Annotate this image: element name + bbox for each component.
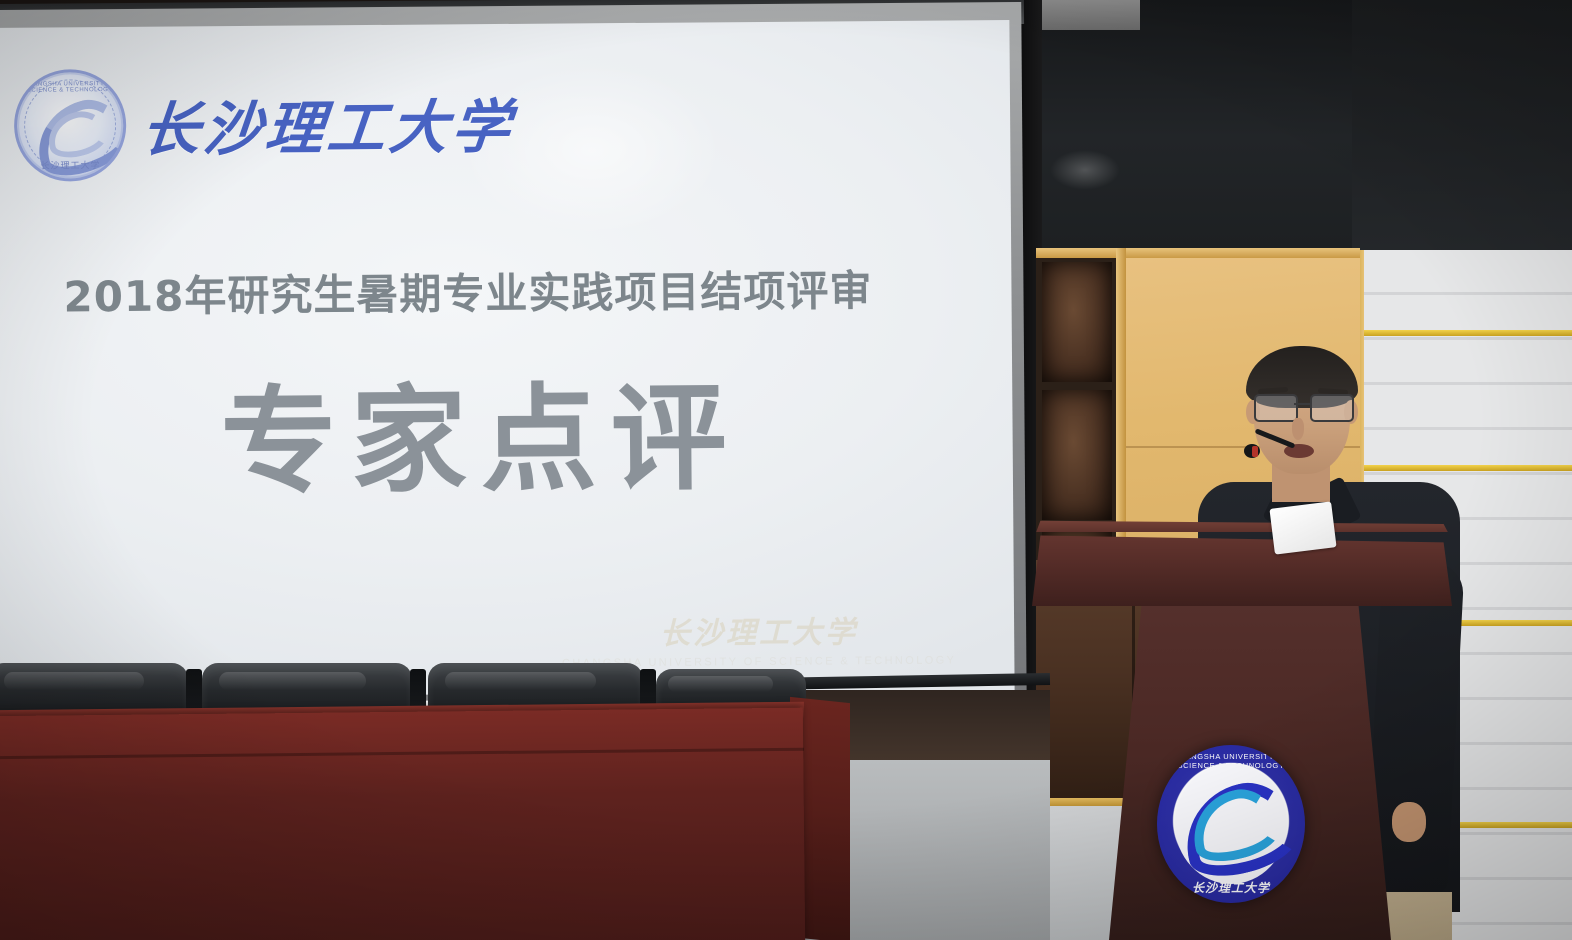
slide-watermark-cn: 长沙理工大学 <box>562 606 957 653</box>
wood-trim-top <box>1036 248 1360 258</box>
presentation-photo-scene: CHANGSHA UNIVERSITY OF SCIENCE & TECHNOL… <box>0 0 1572 940</box>
chair-highlight <box>4 672 144 691</box>
slide-brand-lockup: CHANGSHA UNIVERSITY OF SCIENCE & TECHNOL… <box>14 66 515 182</box>
slide-subtitle: 2018年研究生暑期专业实践项目结项评审 <box>63 257 943 325</box>
podium-emblem-cn-text: 长沙理工大学 <box>1157 879 1305 896</box>
chair-highlight <box>668 676 773 692</box>
chair-highlight <box>219 672 366 691</box>
university-seal-icon: CHANGSHA UNIVERSITY OF SCIENCE & TECHNOL… <box>14 69 127 182</box>
speaker-papers <box>1269 501 1336 554</box>
wall-recess-2 <box>1042 390 1112 520</box>
speaker-trousers <box>1382 892 1452 940</box>
slide-wordmark: 长沙理工大学 <box>138 80 518 167</box>
speaker-hand <box>1392 802 1426 842</box>
slide-title: 专家点评 <box>220 344 741 516</box>
speaker-nose <box>1292 418 1304 440</box>
glasses-lens-left <box>1254 394 1298 422</box>
microphone-red-ring <box>1252 446 1258 457</box>
glasses-lens-right <box>1310 394 1354 422</box>
podium-university-emblem-icon: CHANGSHA UNIVERSITY OF SCIENCE & TECHNOL… <box>1157 745 1305 903</box>
chair-highlight <box>445 672 596 691</box>
eyeglasses-icon <box>1252 394 1354 418</box>
glasses-bridge <box>1294 403 1310 405</box>
projection-screen: CHANGSHA UNIVERSITY OF SCIENCE & TECHNOL… <box>0 20 1015 698</box>
foreground-table <box>0 708 805 940</box>
slat-wall-upper-dark-band <box>1352 0 1572 252</box>
wall-recess-1 <box>1042 262 1112 382</box>
seal-ring-en-text: CHANGSHA UNIVERSITY OF SCIENCE & TECHNOL… <box>17 81 123 94</box>
seal-ring-cn-text: 长沙理工大学 <box>17 158 123 172</box>
